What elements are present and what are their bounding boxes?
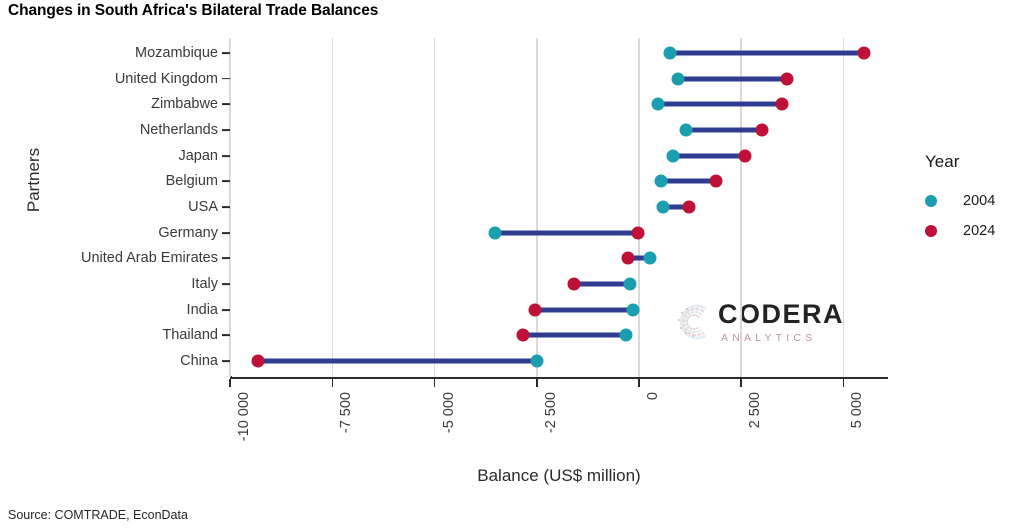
x-gridline xyxy=(536,38,538,377)
data-point-2024[interactable] xyxy=(568,278,581,291)
y-tick-mark xyxy=(222,103,230,105)
y-tick-mark xyxy=(222,258,230,260)
x-tick-label: -5 000 xyxy=(441,392,457,433)
dumbbell-connector xyxy=(670,51,864,56)
data-point-2024[interactable] xyxy=(528,303,541,316)
x-tick-label: 5 000 xyxy=(849,392,865,428)
data-point-2024[interactable] xyxy=(780,72,793,85)
y-tick-mark xyxy=(222,206,230,208)
x-tick-label: -10 000 xyxy=(236,392,252,441)
dumbbell-connector xyxy=(686,128,762,133)
y-tick-mark xyxy=(222,309,230,311)
page-title: Changes in South Africa's Bilateral Trad… xyxy=(8,2,378,20)
data-point-2004[interactable] xyxy=(488,226,501,239)
y-tick-label: China xyxy=(180,353,218,369)
dumbbell-connector xyxy=(658,102,782,107)
dumbbell-connector xyxy=(661,179,716,184)
y-tick-mark xyxy=(222,360,230,362)
legend: Year 20042024 xyxy=(925,152,1024,246)
legend-swatch-icon xyxy=(925,225,951,237)
y-tick-label: United Kingdom xyxy=(115,71,218,87)
legend-label: 2024 xyxy=(963,223,995,239)
x-gridline xyxy=(434,38,436,377)
x-tick-mark xyxy=(229,379,231,387)
data-point-2004[interactable] xyxy=(680,124,693,137)
y-tick-label: United Arab Emirates xyxy=(81,250,218,266)
y-tick-mark xyxy=(222,155,230,157)
y-axis-title: Partners xyxy=(24,120,44,240)
data-point-2004[interactable] xyxy=(671,72,684,85)
x-gridline xyxy=(638,38,640,377)
dumbbell-connector xyxy=(495,230,638,235)
x-tick-mark xyxy=(434,379,436,387)
data-point-2024[interactable] xyxy=(710,175,723,188)
y-tick-label: Mozambique xyxy=(135,45,218,61)
data-point-2004[interactable] xyxy=(531,355,544,368)
x-axis-line xyxy=(230,377,888,379)
y-tick-mark xyxy=(222,180,230,182)
y-tick-label: Netherlands xyxy=(140,122,218,138)
chart-container: Changes in South Africa's Bilateral Trad… xyxy=(0,0,1024,532)
dumbbell-connector xyxy=(678,76,787,81)
y-tick-label: Germany xyxy=(158,225,218,241)
y-tick-mark xyxy=(222,52,230,54)
data-point-2024[interactable] xyxy=(516,329,529,342)
data-point-2024[interactable] xyxy=(251,355,264,368)
y-tick-label: Japan xyxy=(178,148,218,164)
dumbbell-connector xyxy=(258,359,537,364)
data-point-2024[interactable] xyxy=(857,47,870,60)
y-tick-mark xyxy=(222,78,230,80)
x-tick-label: 0 xyxy=(645,392,661,400)
plot-area xyxy=(231,38,887,376)
data-point-2024[interactable] xyxy=(756,124,769,137)
legend-title: Year xyxy=(925,152,1024,172)
y-tick-label: Zimbabwe xyxy=(151,96,218,112)
y-tick-label: India xyxy=(187,302,218,318)
y-tick-label: USA xyxy=(188,199,218,215)
legend-item-2024[interactable]: 2024 xyxy=(925,216,1024,246)
y-tick-label: Italy xyxy=(191,276,218,292)
x-gridline xyxy=(740,38,742,377)
x-tick-label: -7 500 xyxy=(338,392,354,433)
x-tick-label: -2 500 xyxy=(543,392,559,433)
data-point-2004[interactable] xyxy=(652,98,665,111)
data-point-2024[interactable] xyxy=(738,149,751,162)
data-point-2024[interactable] xyxy=(631,226,644,239)
y-tick-mark xyxy=(222,232,230,234)
legend-item-2004[interactable]: 2004 xyxy=(925,186,1024,216)
x-axis-title: Balance (US$ million) xyxy=(231,466,887,486)
data-point-2004[interactable] xyxy=(627,303,640,316)
data-point-2024[interactable] xyxy=(776,98,789,111)
x-tick-label: 2 500 xyxy=(747,392,763,428)
data-point-2004[interactable] xyxy=(657,201,670,214)
dumbbell-connector xyxy=(574,282,630,287)
dumbbell-connector xyxy=(535,307,633,312)
data-point-2004[interactable] xyxy=(664,47,677,60)
x-tick-mark xyxy=(536,379,538,387)
data-point-2004[interactable] xyxy=(666,149,679,162)
data-point-2004[interactable] xyxy=(655,175,668,188)
y-tick-label: Thailand xyxy=(162,327,218,343)
y-tick-label: Belgium xyxy=(166,173,218,189)
data-point-2004[interactable] xyxy=(644,252,657,265)
legend-swatch-icon xyxy=(925,195,951,207)
dumbbell-connector xyxy=(523,333,626,338)
x-tick-mark xyxy=(740,379,742,387)
x-gridline xyxy=(843,38,845,377)
x-tick-mark xyxy=(332,379,334,387)
x-tick-mark xyxy=(843,379,845,387)
source-note: Source: COMTRADE, EconData xyxy=(8,508,188,522)
y-tick-mark xyxy=(222,335,230,337)
data-point-2004[interactable] xyxy=(624,278,637,291)
data-point-2024[interactable] xyxy=(683,201,696,214)
y-tick-mark xyxy=(222,283,230,285)
y-tick-mark xyxy=(222,129,230,131)
dumbbell-connector xyxy=(673,153,745,158)
data-point-2004[interactable] xyxy=(619,329,632,342)
data-point-2024[interactable] xyxy=(621,252,634,265)
x-gridline xyxy=(332,38,334,377)
x-tick-mark xyxy=(638,379,640,387)
legend-label: 2004 xyxy=(963,193,995,209)
